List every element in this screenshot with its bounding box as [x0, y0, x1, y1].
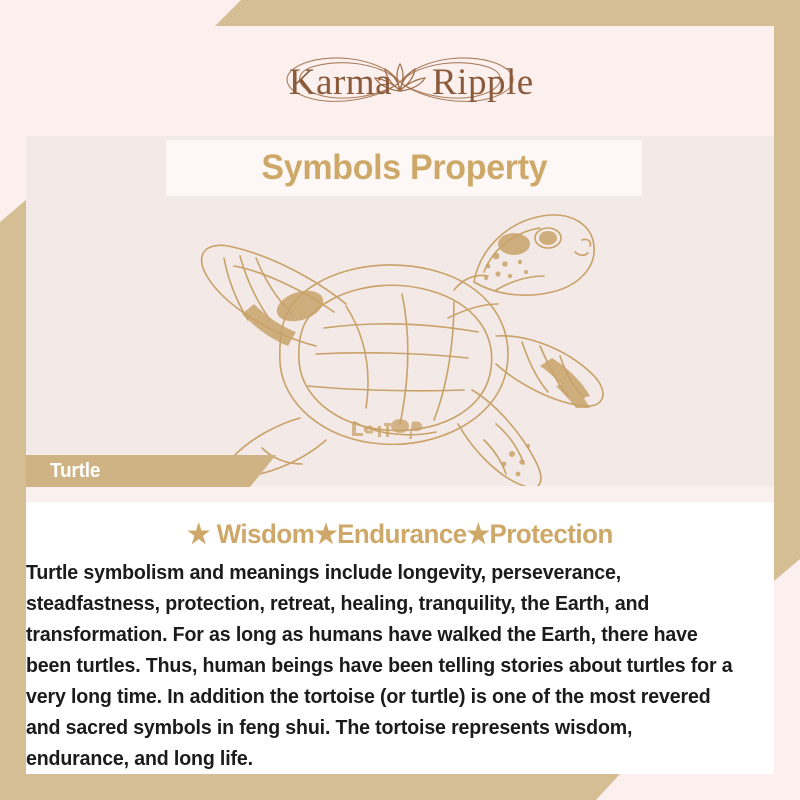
symbol-description: Turtle symbolism and meanings include lo…	[26, 558, 746, 775]
page-title: Symbols Property	[261, 148, 547, 188]
symbol-name-banner: Turtle	[26, 455, 276, 487]
symbol-name-label: Turtle	[50, 460, 100, 483]
brand-name-right: Ripple	[432, 62, 534, 103]
symbol-keywords: ★ Wisdom★Endurance★Protection	[41, 520, 759, 550]
brand-logo-svg: Karma Ripple	[250, 45, 550, 119]
brand-logo: Karma Ripple	[26, 44, 774, 120]
frame-band-top	[215, 0, 800, 26]
frame-band-bottom	[0, 774, 620, 800]
content-panel: ★ Wisdom★Endurance★Protection Turtle sym…	[26, 502, 774, 774]
sea-turtle-line-art-icon	[196, 186, 626, 486]
turtle-illustration	[196, 186, 626, 486]
frame-band-left	[0, 200, 26, 774]
card-inner: Karma Ripple Symbols Property	[26, 26, 774, 774]
symbol-property-card: Karma Ripple Symbols Property	[0, 0, 800, 800]
frame-band-right	[774, 26, 800, 581]
brand-name-left: Karma	[289, 62, 392, 103]
